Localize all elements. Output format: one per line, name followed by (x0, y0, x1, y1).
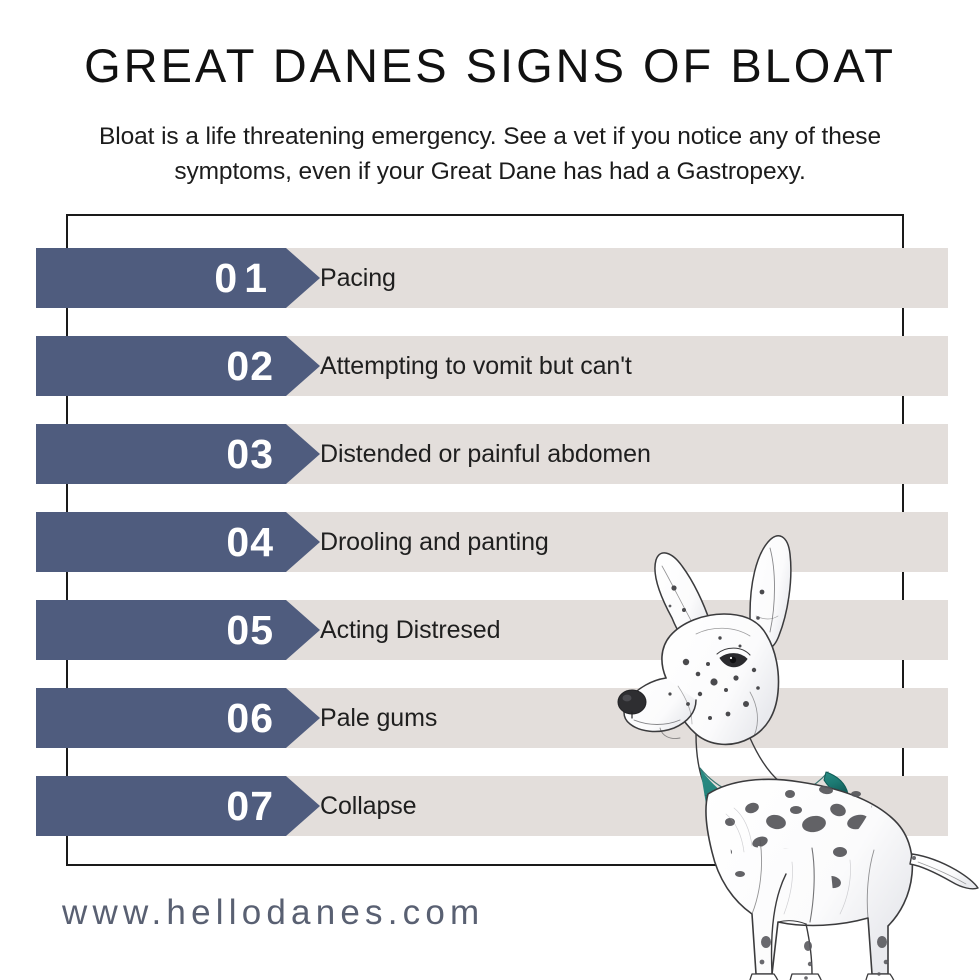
symptom-number-badge: 07 (36, 776, 286, 836)
symptom-number: 07 (226, 786, 274, 827)
symptom-label: Distended or painful abdomen (320, 424, 651, 484)
symptom-label: Collapse (320, 776, 416, 836)
symptom-number: 02 (226, 346, 274, 387)
website-url: www.hellodanes.com (62, 893, 484, 933)
symptom-label: Attempting to vomit but can't (320, 336, 632, 396)
symptom-number-badge: 03 (36, 424, 286, 484)
symptom-label: Drooling and panting (320, 512, 549, 572)
symptom-number: 01 (208, 258, 274, 299)
symptom-label: Pacing (320, 248, 396, 308)
symptom-label: Pale gums (320, 688, 437, 748)
symptom-number-badge: 04 (36, 512, 286, 572)
symptom-label: Acting Distresed (320, 600, 500, 660)
symptom-list: 01Pacing02Attempting to vomit but can't0… (0, 0, 980, 980)
symptom-number: 06 (226, 698, 274, 739)
symptom-number-badge: 05 (36, 600, 286, 660)
symptom-number-badge: 02 (36, 336, 286, 396)
symptom-number: 03 (226, 434, 274, 475)
symptom-number: 04 (226, 522, 274, 563)
symptom-number-badge: 06 (36, 688, 286, 748)
symptom-number: 05 (226, 610, 274, 651)
symptom-number-badge: 01 (36, 248, 286, 308)
infographic-poster: GREAT DANES SIGNS OF BLOAT Bloat is a li… (0, 0, 980, 980)
